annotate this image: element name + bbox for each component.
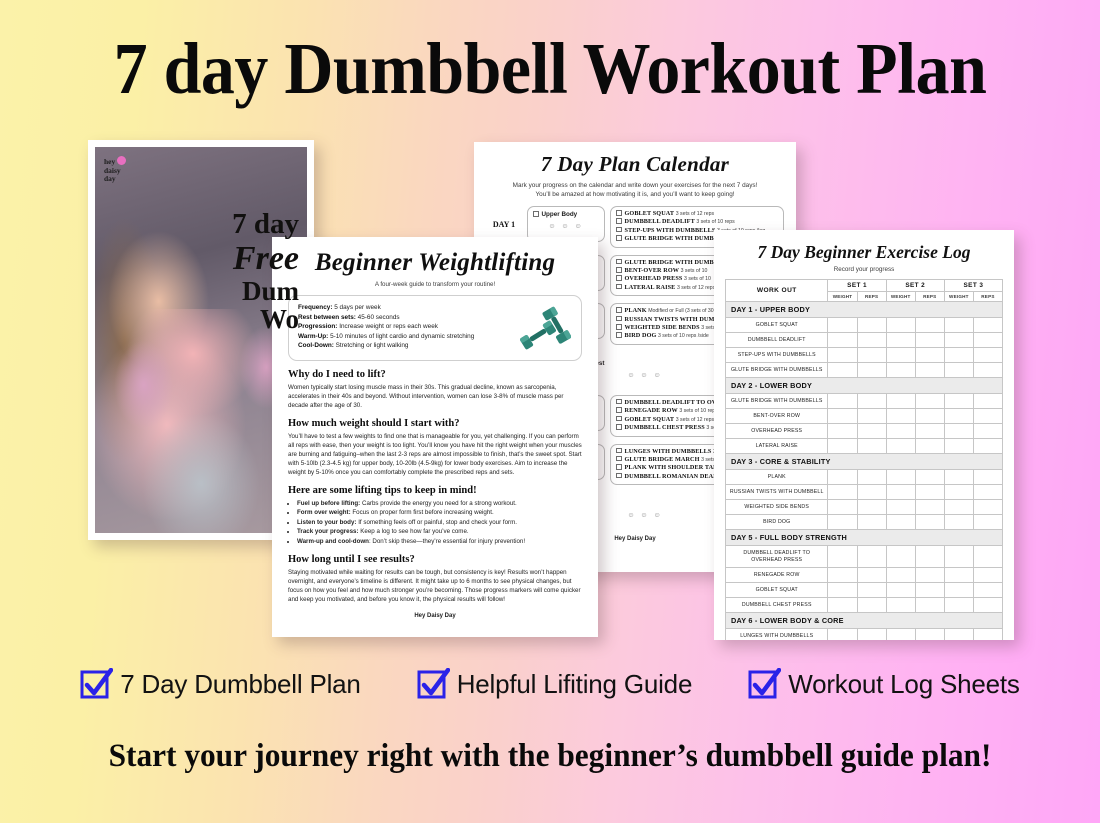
log-entry-cell[interactable] [973, 583, 1002, 598]
log-exercise-row: GLUTE BRIDGE WITH DUMBBELLS [726, 363, 1003, 378]
summary-value: 5 days per week [332, 304, 380, 311]
feature-item: Workout Log Sheets [748, 668, 1020, 701]
tip-value: Carbs provide the energy you need for a … [360, 500, 517, 507]
log-entry-cell[interactable] [915, 333, 944, 348]
calendar-subtitle: Mark your progress on the calendar and w… [486, 181, 784, 199]
guide-tip-item: Warm-up and cool-down: Don’t skip these—… [297, 537, 582, 546]
checkbox-icon[interactable] [616, 407, 622, 413]
feature-item: 7 Day Dumbbell Plan [80, 668, 360, 701]
log-entry-cell[interactable] [886, 515, 915, 530]
summary-label: Cool-Down: [298, 342, 334, 349]
tip-value: Focus on proper form first before increa… [351, 509, 494, 516]
log-entry-cell[interactable] [886, 598, 915, 613]
guide-tip-item: Track your progress: Keep a log to see h… [297, 527, 582, 536]
checkbox-icon[interactable] [616, 316, 622, 322]
log-entry-cell[interactable] [857, 629, 886, 641]
log-exercise-name: DUMBBELL DEADLIFT TO OVERHEAD PRESS [726, 546, 828, 568]
log-exercise-name: PLANK [726, 470, 828, 485]
log-entry-cell[interactable] [944, 424, 973, 439]
exercise-name: DUMBBELL DEADLIFT [625, 218, 695, 225]
log-exercise-row: GOBLET SQUAT [726, 583, 1003, 598]
log-day-label: DAY 3 - CORE & STABILITY [726, 454, 1003, 470]
log-entry-cell[interactable] [915, 424, 944, 439]
checkbox-icon[interactable] [616, 227, 622, 233]
log-entry-cell[interactable] [828, 348, 857, 363]
log-col-weight: WEIGHT [886, 292, 915, 302]
tip-label: Warm-up and cool-down [297, 538, 369, 545]
guide-heading-1: Why do I need to lift? [288, 369, 582, 380]
mood-faces-icon[interactable]: ☺ ☺ ☺ [533, 223, 599, 230]
feature-label: 7 Day Dumbbell Plan [120, 669, 360, 700]
guide-tips-list: Fuel up before lifting: Carbs provide th… [297, 499, 582, 546]
guide-heading-2: How much weight should I start with? [288, 418, 582, 429]
log-entry-cell[interactable] [915, 318, 944, 333]
checkbox-icon[interactable] [616, 275, 622, 281]
checkbox-icon[interactable] [616, 416, 622, 422]
log-day-label: DAY 1 - UPPER BODY [726, 302, 1003, 318]
log-exercise-row: GOBLET SQUAT [726, 318, 1003, 333]
guide-heading-3: Here are some lifting tips to keep in mi… [288, 485, 582, 496]
cover-headline: 7 day Free Dum Wo [232, 209, 299, 333]
log-entry-cell[interactable] [828, 568, 857, 583]
log-entry-cell[interactable] [857, 363, 886, 378]
log-exercise-row: LUNGES WITH DUMBBELLS [726, 629, 1003, 641]
log-entry-cell[interactable] [857, 318, 886, 333]
log-day-label: DAY 2 - LOWER BODY [726, 378, 1003, 394]
log-entry-cell[interactable] [886, 629, 915, 641]
log-col-reps: REPS [915, 292, 944, 302]
summary-value: 45-60 seconds [356, 314, 400, 321]
log-entry-cell[interactable] [915, 546, 944, 568]
log-entry-cell[interactable] [915, 363, 944, 378]
log-entry-cell[interactable] [944, 629, 973, 641]
log-entry-cell[interactable] [915, 439, 944, 454]
guide-heading-4: How long until I see results? [288, 554, 582, 565]
log-exercise-name: GLUTE BRIDGE WITH DUMBBELLS [726, 363, 828, 378]
log-subtitle: Record your progress [725, 266, 1003, 273]
log-entry-cell[interactable] [886, 546, 915, 568]
cover-headline-line1: 7 day [232, 209, 299, 239]
log-entry-cell[interactable] [886, 583, 915, 598]
log-entry-cell[interactable] [944, 546, 973, 568]
log-entry-cell[interactable] [828, 515, 857, 530]
calendar-exercise-item[interactable]: DUMBBELL DEADLIFT 3 sets of 10 reps [616, 218, 778, 226]
log-entry-cell[interactable] [857, 485, 886, 500]
checkbox-checked-icon [417, 668, 450, 701]
tip-value: If something feels off or painful, stop … [356, 519, 517, 526]
guide-body-2: You’ll have to test a few weights to fin… [288, 432, 582, 477]
log-entry-cell[interactable] [973, 629, 1002, 641]
exercise-name: PLANK [625, 307, 647, 314]
log-entry-cell[interactable] [944, 409, 973, 424]
log-entry-cell[interactable] [857, 333, 886, 348]
tip-value: : Don’t skip these—they’re essential for… [369, 538, 525, 545]
checkbox-icon[interactable] [616, 448, 622, 454]
log-entry-cell[interactable] [857, 348, 886, 363]
log-entry-cell[interactable] [886, 485, 915, 500]
calendar-subtitle-line1: Mark your progress on the calendar and w… [513, 182, 758, 189]
log-exercise-name: RUSSIAN TWISTS WITH DUMBBELL [726, 485, 828, 500]
log-entry-cell[interactable] [886, 500, 915, 515]
log-entry-cell[interactable] [886, 409, 915, 424]
summary-value: 5-10 minutes of light cardio and dynamic… [328, 333, 474, 340]
log-entry-cell[interactable] [973, 333, 1002, 348]
tagline: Start your journey right with the beginn… [28, 738, 1073, 775]
log-entry-cell[interactable] [915, 568, 944, 583]
log-day-header-row: DAY 3 - CORE & STABILITY [726, 454, 1003, 470]
log-entry-cell[interactable] [857, 515, 886, 530]
exercise-sets: 3 sets of 10 reps [696, 219, 734, 225]
log-entry-cell[interactable] [944, 500, 973, 515]
summary-label: Warm-Up: [298, 333, 328, 340]
log-entry-cell[interactable] [973, 598, 1002, 613]
exercise-sets: 3 sets of 10 reps [679, 408, 717, 414]
exercise-name: WEIGHTED SIDE BENDS [625, 324, 700, 331]
checkbox-icon[interactable] [616, 284, 622, 290]
exercise-name: DUMBBELL CHEST PRESS [625, 424, 705, 431]
log-exercise-name: DUMBBELL CHEST PRESS [726, 598, 828, 613]
cover-headline-line3: Dum [232, 277, 299, 305]
exercise-sets: 3 sets of 12 reps [676, 211, 714, 217]
guide-body-1: Women typically start losing muscle mass… [288, 383, 582, 410]
tip-value: Keep a log to see how far you’ve come. [359, 528, 469, 535]
exercise-sets: 3 sets of 10 [684, 276, 711, 282]
log-entry-cell[interactable] [973, 394, 1002, 409]
log-entry-cell[interactable] [857, 424, 886, 439]
log-exercise-row: DUMBBELL DEADLIFT [726, 333, 1003, 348]
log-entry-cell[interactable] [886, 424, 915, 439]
log-exercise-row: BIRD DOG [726, 515, 1003, 530]
log-day-header-row: DAY 1 - UPPER BODY [726, 302, 1003, 318]
log-entry-cell[interactable] [973, 568, 1002, 583]
log-entry-cell[interactable] [915, 394, 944, 409]
log-exercise-row: WEIGHTED SIDE BENDS [726, 500, 1003, 515]
checkbox-icon[interactable] [616, 259, 622, 265]
log-entry-cell[interactable] [857, 409, 886, 424]
log-entry-cell[interactable] [886, 394, 915, 409]
log-exercise-row: BENT-OVER ROW [726, 409, 1003, 424]
log-title: 7 Day Beginner Exercise Log [725, 242, 1003, 263]
log-col-workout: WORK OUT [726, 280, 828, 302]
log-entry-cell[interactable] [915, 409, 944, 424]
summary-value: Stretching or light walking [334, 342, 409, 349]
document-preview-guide[interactable]: Beginner Weightlifting A four-week guide… [272, 237, 598, 637]
summary-value: Increase weight or reps each week [337, 323, 438, 330]
checkbox-icon[interactable] [616, 424, 622, 430]
log-entry-cell[interactable] [973, 546, 1002, 568]
log-day-header-row: DAY 6 - LOWER BODY & CORE [726, 613, 1003, 629]
log-entry-cell[interactable] [915, 348, 944, 363]
log-entry-cell[interactable] [915, 485, 944, 500]
exercise-name: BENT-OVER ROW [625, 267, 680, 274]
checkbox-checked-icon [748, 668, 781, 701]
checkbox-icon[interactable] [616, 473, 622, 479]
log-entry-cell[interactable] [828, 439, 857, 454]
log-entry-cell[interactable] [973, 424, 1002, 439]
exercise-name: PLANK WITH SHOULDER TAP [625, 464, 718, 471]
daisy-dot-icon [117, 156, 126, 165]
checkbox-icon[interactable] [616, 324, 622, 330]
checkbox-icon[interactable] [616, 267, 622, 273]
log-day-header-row: DAY 5 - FULL BODY STRENGTH [726, 530, 1003, 546]
exercise-name: BIRD DOG [625, 332, 657, 339]
log-entry-cell[interactable] [944, 485, 973, 500]
log-col-weight: WEIGHT [944, 292, 973, 302]
log-day-label: DAY 6 - LOWER BODY & CORE [726, 613, 1003, 629]
tip-label: Form over weight: [297, 509, 351, 516]
log-col-set-2: SET 2 [886, 280, 944, 292]
log-exercise-name: LATERAL RAISE [726, 439, 828, 454]
log-entry-cell[interactable] [944, 568, 973, 583]
log-entry-cell[interactable] [828, 363, 857, 378]
log-entry-cell[interactable] [828, 500, 857, 515]
exercise-name: GOBLET SQUAT [625, 210, 675, 217]
log-entry-cell[interactable] [944, 318, 973, 333]
log-entry-cell[interactable] [973, 318, 1002, 333]
log-col-reps: REPS [857, 292, 886, 302]
log-day-header-row: DAY 2 - LOWER BODY [726, 378, 1003, 394]
log-entry-cell[interactable] [973, 470, 1002, 485]
log-entry-cell[interactable] [886, 348, 915, 363]
checkbox-checked-icon [80, 668, 113, 701]
log-entry-cell[interactable] [915, 598, 944, 613]
calendar-exercise-item[interactable]: GOBLET SQUAT 3 sets of 12 reps [616, 210, 778, 218]
guide-tip-item: Fuel up before lifting: Carbs provide th… [297, 499, 582, 508]
log-col-set-1: SET 1 [828, 280, 886, 292]
log-exercise-row: RUSSIAN TWISTS WITH DUMBBELL [726, 485, 1003, 500]
log-entry-cell[interactable] [828, 470, 857, 485]
log-exercise-name: BENT-OVER ROW [726, 409, 828, 424]
calendar-day-label: DAY 1 [486, 206, 522, 229]
log-exercise-name: BIRD DOG [726, 515, 828, 530]
checkbox-icon[interactable] [616, 332, 622, 338]
exercise-name: GOBLET SQUAT [625, 416, 675, 423]
log-entry-cell[interactable] [944, 470, 973, 485]
log-entry-cell[interactable] [944, 333, 973, 348]
log-entry-cell[interactable] [944, 515, 973, 530]
log-table-body: DAY 1 - UPPER BODYGOBLET SQUATDUMBBELL D… [726, 302, 1003, 641]
log-table-head: WORK OUT SET 1 SET 2 SET 3 WEIGHTREPSWEI… [726, 280, 1003, 302]
guide-tip-item: Form over weight: Focus on proper form f… [297, 508, 582, 517]
exercise-name: RENEGADE ROW [625, 407, 678, 414]
log-exercise-row: RENEGADE ROW [726, 568, 1003, 583]
brand-logo: hey daisy day [104, 156, 126, 184]
exercise-log-table: WORK OUT SET 1 SET 2 SET 3 WEIGHTREPSWEI… [725, 279, 1003, 640]
guide-footer: Hey Daisy Day [288, 613, 582, 619]
exercise-sets: 3 sets of 10 reps /side [658, 333, 709, 339]
log-entry-cell[interactable] [857, 394, 886, 409]
log-exercise-name: OVERHEAD PRESS [726, 424, 828, 439]
feature-label: Helpful Lifiting Guide [457, 669, 693, 700]
exercise-sets: 3 sets of 12 reps [676, 417, 714, 423]
log-exercise-name: DUMBBELL DEADLIFT [726, 333, 828, 348]
log-entry-cell[interactable] [944, 598, 973, 613]
checkbox-icon[interactable] [616, 456, 622, 462]
log-exercise-row: GLUTE BRIDGE WITH DUMBBELLS [726, 394, 1003, 409]
exercise-name: STEP-UPS WITH DUMBBELLS [625, 227, 716, 234]
log-exercise-row: DUMBBELL DEADLIFT TO OVERHEAD PRESS [726, 546, 1003, 568]
log-entry-cell[interactable] [944, 583, 973, 598]
log-entry-cell[interactable] [828, 598, 857, 613]
log-entry-cell[interactable] [828, 409, 857, 424]
log-entry-cell[interactable] [915, 500, 944, 515]
log-entry-cell[interactable] [886, 318, 915, 333]
log-entry-cell[interactable] [973, 439, 1002, 454]
log-col-weight: WEIGHT [828, 292, 857, 302]
log-entry-cell[interactable] [828, 424, 857, 439]
tip-label: Listen to your body: [297, 519, 356, 526]
log-exercise-row: OVERHEAD PRESS [726, 424, 1003, 439]
log-entry-cell[interactable] [973, 485, 1002, 500]
log-entry-cell[interactable] [886, 333, 915, 348]
log-exercise-name: LUNGES WITH DUMBBELLS [726, 629, 828, 641]
log-entry-cell[interactable] [944, 439, 973, 454]
log-entry-cell[interactable] [886, 568, 915, 583]
log-entry-cell[interactable] [828, 546, 857, 568]
log-entry-cell[interactable] [828, 318, 857, 333]
log-entry-cell[interactable] [886, 470, 915, 485]
log-exercise-name: GOBLET SQUAT [726, 318, 828, 333]
document-preview-log[interactable]: 7 Day Beginner Exercise Log Record your … [714, 230, 1014, 640]
log-entry-cell[interactable] [915, 470, 944, 485]
checkbox-icon[interactable] [533, 211, 539, 217]
summary-label: Progression: [298, 323, 337, 330]
calendar-subtitle-line2: You’ll be amazed at how motivating it is… [535, 191, 734, 198]
log-entry-cell[interactable] [944, 363, 973, 378]
log-entry-cell[interactable] [857, 470, 886, 485]
log-entry-cell[interactable] [973, 500, 1002, 515]
log-entry-cell[interactable] [944, 348, 973, 363]
calendar-type-label: Upper Body [533, 211, 599, 218]
guide-body-4: Staying motivated while waiting for resu… [288, 568, 582, 604]
feature-label: Workout Log Sheets [788, 669, 1020, 700]
log-entry-cell[interactable] [915, 629, 944, 641]
log-entry-cell[interactable] [973, 348, 1002, 363]
guide-subtitle: A four-week guide to transform your rout… [288, 281, 582, 288]
log-entry-cell[interactable] [886, 439, 915, 454]
tip-label: Fuel up before lifting: [297, 500, 360, 507]
exercise-name: OVERHEAD PRESS [625, 275, 683, 282]
log-exercise-name: GOBLET SQUAT [726, 583, 828, 598]
guide-summary-box: Frequency: 5 days per weekRest between s… [288, 295, 582, 361]
tip-label: Track your progress: [297, 528, 359, 535]
log-exercise-name: RENEGADE ROW [726, 568, 828, 583]
exercise-name: LUNGES WITH DUMBBELLS [625, 448, 712, 455]
log-exercise-row: STEP-UPS WITH DUMBBELLS [726, 348, 1003, 363]
brand-logo-line3: day [104, 174, 116, 183]
log-entry-cell[interactable] [857, 546, 886, 568]
log-entry-cell[interactable] [973, 363, 1002, 378]
checkbox-icon[interactable] [616, 218, 622, 224]
log-entry-cell[interactable] [828, 485, 857, 500]
cover-headline-line4: Wo [232, 305, 299, 333]
cover-headline-line2: Free [232, 241, 299, 277]
log-entry-cell[interactable] [973, 409, 1002, 424]
log-entry-cell[interactable] [828, 629, 857, 641]
log-entry-cell[interactable] [973, 515, 1002, 530]
guide-title: Beginner Weightlifting [288, 249, 582, 277]
log-entry-cell[interactable] [944, 394, 973, 409]
calendar-title: 7 Day Plan Calendar [486, 152, 784, 177]
exercise-name: LATERAL RAISE [625, 284, 676, 291]
checkbox-icon[interactable] [616, 399, 622, 405]
log-exercise-name: STEP-UPS WITH DUMBBELLS [726, 348, 828, 363]
log-entry-cell[interactable] [857, 500, 886, 515]
log-entry-cell[interactable] [857, 568, 886, 583]
exercise-sets: 3 sets of 10 [681, 268, 708, 274]
feature-item: Helpful Lifiting Guide [417, 668, 693, 701]
log-entry-cell[interactable] [886, 363, 915, 378]
log-entry-cell[interactable] [828, 333, 857, 348]
log-exercise-row: DUMBBELL CHEST PRESS [726, 598, 1003, 613]
exercise-sets: 3 sets of 12 reps [677, 285, 715, 291]
log-exercise-name: GLUTE BRIDGE WITH DUMBBELLS [726, 394, 828, 409]
log-entry-cell[interactable] [857, 583, 886, 598]
guide-tip-item: Listen to your body: If something feels … [297, 518, 582, 527]
summary-label: Rest between sets: [298, 314, 356, 321]
dumbbell-icon [515, 304, 571, 354]
log-header-row-sets: WORK OUT SET 1 SET 2 SET 3 [726, 280, 1003, 292]
log-entry-cell[interactable] [828, 394, 857, 409]
checkbox-icon[interactable] [616, 307, 622, 313]
summary-label: Frequency: [298, 304, 332, 311]
checkbox-icon[interactable] [616, 235, 622, 241]
log-col-reps: REPS [973, 292, 1002, 302]
log-exercise-row: LATERAL RAISE [726, 439, 1003, 454]
log-entry-cell[interactable] [828, 583, 857, 598]
log-exercise-row: PLANK [726, 470, 1003, 485]
checkbox-icon[interactable] [616, 464, 622, 470]
log-day-label: DAY 5 - FULL BODY STRENGTH [726, 530, 1003, 546]
exercise-name: GLUTE BRIDGE MARCH [625, 456, 700, 463]
log-entry-cell[interactable] [857, 598, 886, 613]
log-entry-cell[interactable] [915, 515, 944, 530]
log-entry-cell[interactable] [857, 439, 886, 454]
log-col-set-3: SET 3 [944, 280, 1002, 292]
checkbox-icon[interactable] [616, 210, 622, 216]
feature-list: 7 Day Dumbbell PlanHelpful Lifiting Guid… [0, 668, 1100, 701]
log-entry-cell[interactable] [915, 583, 944, 598]
log-exercise-name: WEIGHTED SIDE BENDS [726, 500, 828, 515]
